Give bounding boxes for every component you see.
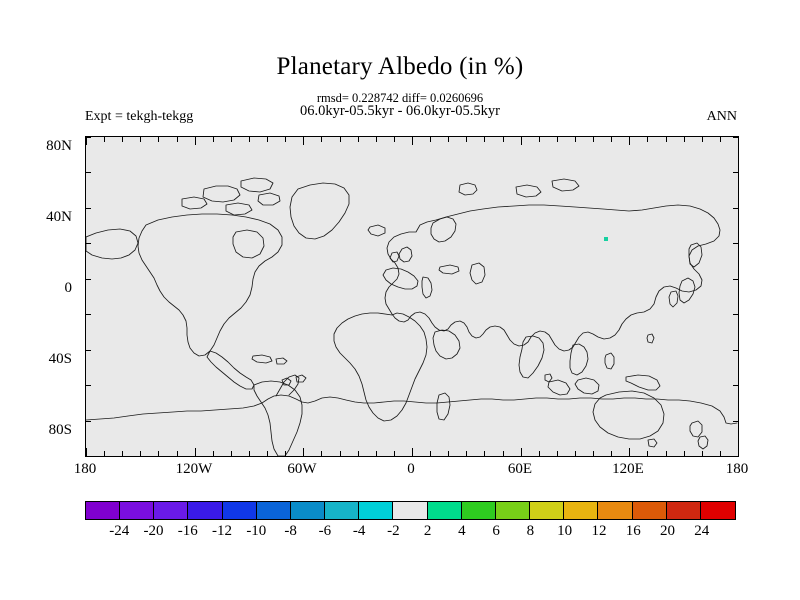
x-tick-mark [376,451,377,456]
x-tick-mark [358,137,359,142]
colorbar-tick-label: -12 [212,523,232,540]
colorbar-tick-label: 6 [492,523,500,540]
x-tick-mark [557,137,558,142]
x-tick-mark [249,451,250,456]
y-tick-mark [86,279,91,280]
y-tick-label-40n: 40N [2,210,72,225]
x-tick-label-120e: 120E [612,462,644,477]
y-tick-mark [86,314,91,315]
world-coastline-map [86,137,738,456]
colorbar-tick-label: -24 [109,523,129,540]
x-tick-mark [321,137,322,142]
x-tick-mark [430,451,431,456]
x-tick-mark [412,448,413,456]
x-tick-mark [267,137,268,142]
x-tick-mark [593,451,594,456]
season-label: ANN [707,109,737,125]
x-tick-label-0: 0 [407,462,415,477]
x-tick-mark [720,451,721,456]
x-tick-mark [104,137,105,142]
colorbar-tick-label: 2 [424,523,432,540]
colorbar-tick-label: -10 [246,523,266,540]
y-tick-mark [86,172,91,173]
x-tick-mark [394,137,395,142]
x-tick-mark [86,448,87,456]
anomaly-marker-central-asia [604,237,608,241]
y-tick-label-40s: 40S [2,352,72,367]
colorbar-swatch [325,502,359,519]
x-tick-mark [177,451,178,456]
x-tick-mark [738,448,739,456]
x-tick-mark [448,137,449,142]
x-tick-mark [720,137,721,142]
x-tick-mark [684,451,685,456]
x-tick-mark [647,451,648,456]
x-tick-mark [158,451,159,456]
x-tick-mark [358,451,359,456]
page-title: Planetary Albedo (in %) [0,52,800,82]
x-tick-mark [195,448,196,456]
x-tick-mark [738,137,739,145]
colorbar-swatch [667,502,701,519]
x-tick-mark [503,137,504,142]
x-tick-mark [647,137,648,142]
x-tick-mark [177,137,178,142]
x-tick-mark [611,137,612,142]
y-tick-mark [733,421,738,422]
x-tick-mark [430,137,431,142]
x-tick-mark [448,451,449,456]
x-tick-mark [539,451,540,456]
x-tick-mark [702,137,703,142]
experiment-label: Expt = tekgh-tekgg [85,109,193,125]
colorbar-swatch [428,502,462,519]
x-tick-mark [702,451,703,456]
colorbar-tick-label: 16 [626,523,641,540]
x-axis: 180 120W 60W 0 60E 120E 180 [85,462,737,482]
y-tick-label-0: 0 [2,281,72,296]
x-tick-mark [231,137,232,142]
colorbar-swatch [598,502,632,519]
colorbar-tick-label: 10 [557,523,572,540]
x-tick-mark [285,137,286,142]
x-tick-mark [629,137,630,145]
x-tick-mark [249,137,250,142]
x-tick-mark [412,137,413,145]
y-tick-mark [86,350,91,351]
colorbar-swatch [359,502,393,519]
x-tick-mark [213,137,214,142]
x-tick-mark [575,137,576,142]
x-tick-mark [376,137,377,142]
x-tick-mark [285,451,286,456]
x-tick-mark [466,137,467,142]
x-tick-mark [140,451,141,456]
colorbar-tick-label: 20 [660,523,675,540]
colorbar-swatch [564,502,598,519]
y-tick-mark [86,208,91,209]
x-tick-mark [593,137,594,142]
x-tick-mark [303,448,304,456]
colorbar-tick-label: -8 [284,523,297,540]
colorbar-tick-label: -4 [353,523,366,540]
y-tick-label-80s: 80S [2,423,72,438]
colorbar-tick-label: 4 [458,523,466,540]
x-tick-mark [158,137,159,142]
x-tick-mark [303,137,304,145]
x-tick-mark [484,137,485,142]
x-tick-mark [140,137,141,142]
x-tick-mark [213,451,214,456]
y-tick-mark [733,385,738,386]
colorbar-swatch [257,502,291,519]
colorbar-swatch [393,502,427,519]
y-tick-mark [733,208,738,209]
colorbar-swatch [701,502,735,519]
x-tick-mark [575,451,576,456]
x-tick-mark [684,137,685,142]
colorbar-tick-label: 8 [527,523,535,540]
figure-canvas: Planetary Albedo (in %) rmsd= 0.228742 d… [0,0,800,600]
y-tick-mark [733,243,738,244]
colorbar-swatch [223,502,257,519]
colorbar-tick-labels: -24-20-16-12-10-8-6-4-224681012162024 [85,523,736,543]
x-tick-mark [231,451,232,456]
x-tick-mark [122,137,123,142]
x-tick-mark [503,451,504,456]
x-tick-mark [666,137,667,142]
colorbar-swatches [85,501,736,520]
colorbar-tick-label: 24 [694,523,709,540]
y-tick-mark [733,314,738,315]
x-tick-mark [539,137,540,142]
x-tick-mark [611,451,612,456]
colorbar-tick-label: -16 [178,523,198,540]
y-axis: 80N 40N 0 40S 80S [0,136,72,455]
x-tick-label-120w: 120W [176,462,213,477]
x-tick-mark [340,451,341,456]
colorbar-swatch [154,502,188,519]
y-tick-mark [86,456,91,457]
y-tick-mark [86,385,91,386]
y-tick-mark [86,137,91,138]
x-tick-mark [195,137,196,145]
colorbar-tick-label: 12 [591,523,606,540]
colorbar-tick-label: -6 [319,523,332,540]
y-tick-mark [733,350,738,351]
colorbar-tick-label: -20 [144,523,164,540]
colorbar-swatch [462,502,496,519]
y-tick-mark [733,456,738,457]
colorbar-swatch [291,502,325,519]
colorbar-swatch [496,502,530,519]
y-tick-mark [733,172,738,173]
y-tick-mark [86,421,91,422]
colorbar-swatch [188,502,222,519]
x-tick-label-60e: 60E [508,462,532,477]
colorbar [85,501,736,520]
map-plot-area [85,136,739,457]
x-tick-label-180e: 180 [726,462,749,477]
y-tick-mark [86,243,91,244]
x-tick-mark [86,137,87,145]
x-tick-label-60w: 60W [287,462,316,477]
colorbar-swatch [633,502,667,519]
x-tick-mark [666,451,667,456]
x-tick-mark [122,451,123,456]
x-tick-mark [340,137,341,142]
x-tick-mark [321,451,322,456]
y-tick-mark [733,137,738,138]
x-tick-mark [557,451,558,456]
x-tick-mark [629,448,630,456]
x-tick-mark [521,137,522,145]
x-tick-mark [104,451,105,456]
colorbar-swatch [120,502,154,519]
x-tick-label-180w: 180 [74,462,97,477]
x-tick-mark [267,451,268,456]
y-tick-mark [733,279,738,280]
y-tick-label-80n: 80N [2,139,72,154]
x-tick-mark [466,451,467,456]
x-tick-mark [394,451,395,456]
colorbar-swatch [86,502,120,519]
colorbar-tick-label: -2 [387,523,400,540]
x-tick-mark [484,451,485,456]
colorbar-swatch [530,502,564,519]
x-tick-mark [521,448,522,456]
